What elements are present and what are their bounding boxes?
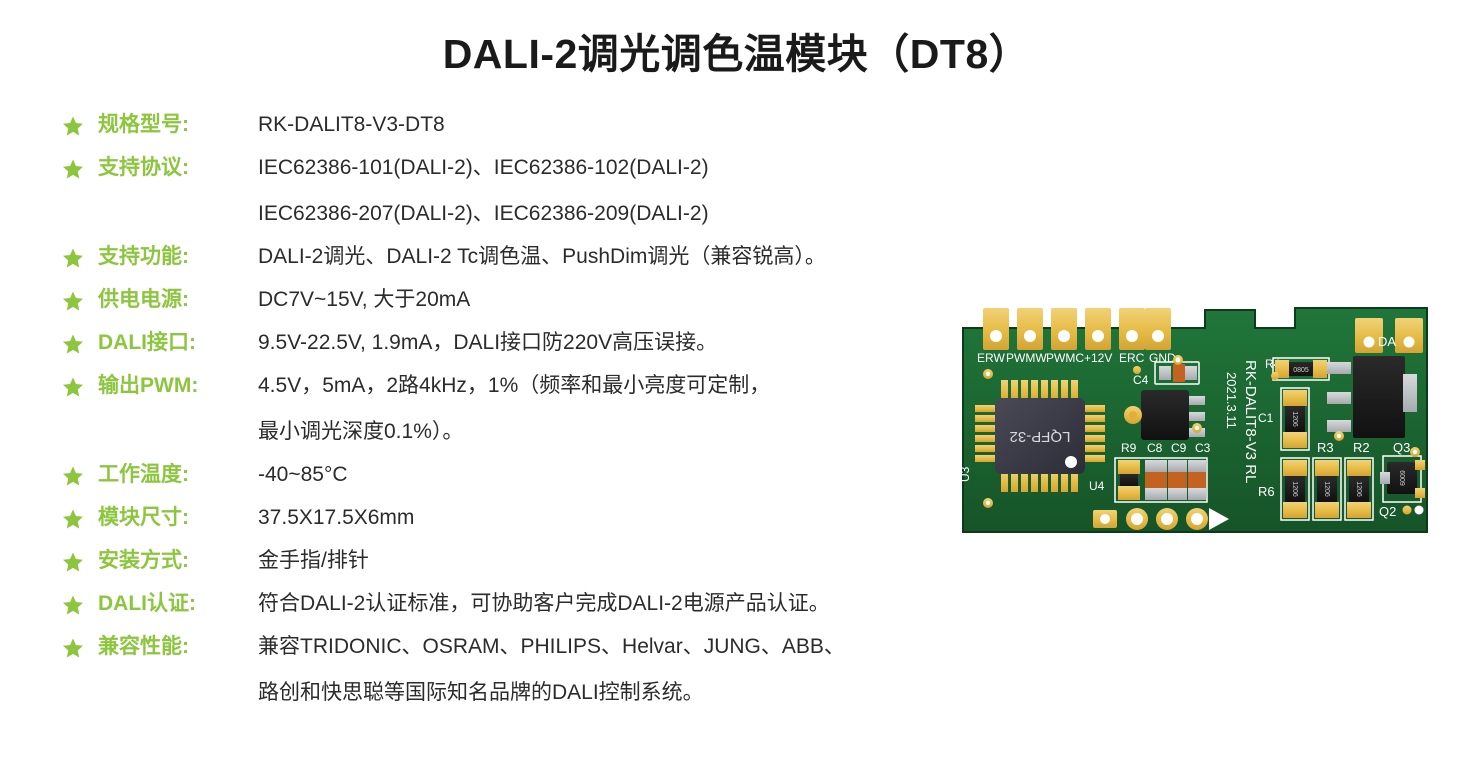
pin-label-12v: +12V	[1084, 351, 1112, 365]
star-cell	[62, 548, 98, 573]
star-icon	[62, 637, 84, 659]
spec-row-pwm-output: 输出PWM: 4.5V，5mA，2路4kHz，1%（频率和最小亮度可定制， 最小…	[62, 373, 1062, 445]
spec-label: 工作温度:	[98, 462, 258, 488]
spec-value-line: -40~85°C	[258, 462, 1062, 488]
spec-value-line: RK-DALIT8-V3-DT8	[258, 112, 1062, 138]
spec-label: 安装方式:	[98, 548, 258, 574]
star-cell	[62, 634, 98, 659]
spec-value-line: DALI-2调光、DALI-2 Tc调色温、PushDim调光（兼容锐高）。	[258, 244, 1062, 270]
star-icon	[62, 115, 84, 137]
ref-r9: R9	[1121, 441, 1137, 455]
product-spec-page: DALI-2调光调色温模块（DT8） 规格型号: RK-DALIT8-V3-DT…	[0, 0, 1473, 783]
svg-text:0805: 0805	[1293, 367, 1309, 374]
board-id-text: RK-DALIT8-V3 RL	[1242, 360, 1259, 483]
spec-row-functions: 支持功能: DALI-2调光、DALI-2 Tc调色温、PushDim调光（兼容…	[62, 244, 1062, 270]
pcb-module-photo: ERW PWMW PWMC +12V ERC GND DA	[955, 300, 1435, 545]
pin-label-erc: ERC	[1119, 351, 1145, 365]
spec-row-protocols: 支持协议: IEC62386-101(DALI-2)、IEC62386-102(…	[62, 155, 1062, 227]
spec-row-mounting: 安装方式: 金手指/排针	[62, 548, 1062, 574]
ref-r6: R6	[1258, 484, 1275, 499]
star-cell	[62, 373, 98, 398]
ref-c8: C8	[1147, 441, 1163, 455]
spec-value: DC7V~15V, 大于20mA	[258, 287, 1062, 313]
pin-label-pwmw: PWMW	[1006, 351, 1047, 365]
star-icon	[62, 508, 84, 530]
ref-c9: C9	[1171, 441, 1187, 455]
spec-value-line: DC7V~15V, 大于20mA	[258, 287, 1062, 313]
spec-label: 支持协议:	[98, 155, 258, 181]
star-cell	[62, 287, 98, 312]
spec-value: 37.5X17.5X6mm	[258, 505, 1062, 531]
ref-c4: C4	[1133, 373, 1149, 387]
star-icon	[62, 290, 84, 312]
ic-marking-lqfp32: LQFP-32	[1010, 428, 1071, 445]
spec-row-dimensions: 模块尺寸: 37.5X17.5X6mm	[62, 505, 1062, 531]
star-icon	[62, 376, 84, 398]
ref-c3: C3	[1195, 441, 1211, 455]
ref-q2: Q2	[1379, 504, 1396, 519]
spec-value: -40~85°C	[258, 462, 1062, 488]
spec-value-line: 路创和快思聪等国际知名品牌的DALI控制系统。	[258, 680, 1062, 706]
spec-value-line: 最小调光深度0.1%）。	[258, 419, 1062, 445]
page-title: DALI-2调光调色温模块（DT8）	[0, 20, 1473, 80]
svg-text:1206: 1206	[1291, 411, 1298, 427]
star-cell	[62, 462, 98, 487]
ref-r3: R3	[1317, 440, 1334, 455]
star-cell	[62, 591, 98, 616]
spec-value-line: 符合DALI-2认证标准，可协助客户完成DALI-2电源产品认证。	[258, 591, 1062, 617]
svg-text:1206: 1206	[1291, 481, 1298, 497]
board-date-text: 2021.3.11	[1224, 372, 1239, 429]
ref-c1: C1	[1258, 411, 1274, 425]
svg-text:6009: 6009	[1398, 470, 1405, 486]
pad-label-da: DA	[1378, 334, 1396, 349]
spec-value: 9.5V-22.5V, 1.9mA，DALI接口防220V高压误接。	[258, 330, 1062, 356]
spec-value-line: 金手指/排针	[258, 548, 1062, 574]
spec-value: 4.5V，5mA，2路4kHz，1%（频率和最小亮度可定制， 最小调光深度0.1…	[258, 373, 1062, 445]
star-icon	[62, 333, 84, 355]
spec-value: 兼容TRIDONIC、OSRAM、PHILIPS、Helvar、JUNG、ABB…	[258, 634, 1062, 706]
spec-value: DALI-2调光、DALI-2 Tc调色温、PushDim调光（兼容锐高）。	[258, 244, 1062, 270]
star-icon	[62, 465, 84, 487]
star-icon	[62, 158, 84, 180]
star-icon	[62, 247, 84, 269]
star-cell	[62, 330, 98, 355]
ref-u4: U4	[1089, 479, 1105, 493]
spec-label: DALI接口:	[98, 330, 258, 356]
spec-row-dali-interface: DALI接口: 9.5V-22.5V, 1.9mA，DALI接口防220V高压误…	[62, 330, 1062, 356]
spec-value: RK-DALIT8-V3-DT8	[258, 112, 1062, 138]
spec-label: 支持功能:	[98, 244, 258, 270]
svg-text:1206: 1206	[1355, 481, 1362, 497]
pin-label-erw: ERW	[977, 351, 1005, 365]
star-cell	[62, 112, 98, 137]
spec-label: 规格型号:	[98, 112, 258, 138]
ref-q3: Q3	[1393, 440, 1410, 455]
spec-label: 输出PWM:	[98, 373, 258, 399]
spec-label: DALI认证:	[98, 591, 258, 617]
spec-value: 金手指/排针	[258, 548, 1062, 574]
spec-value-line: 9.5V-22.5V, 1.9mA，DALI接口防220V高压误接。	[258, 330, 1062, 356]
spec-value-line: 兼容TRIDONIC、OSRAM、PHILIPS、Helvar、JUNG、ABB…	[258, 634, 1062, 660]
spec-row-operating-temperature: 工作温度: -40~85°C	[62, 462, 1062, 488]
star-cell	[62, 505, 98, 530]
spec-value: 符合DALI-2认证标准，可协助客户完成DALI-2电源产品认证。	[258, 591, 1062, 617]
spec-row-certification: DALI认证: 符合DALI-2认证标准，可协助客户完成DALI-2电源产品认证…	[62, 591, 1062, 617]
star-cell	[62, 244, 98, 269]
spec-value-line: IEC62386-207(DALI-2)、IEC62386-209(DALI-2…	[258, 201, 1062, 227]
svg-text:1206: 1206	[1323, 481, 1330, 497]
spec-label: 兼容性能:	[98, 634, 258, 660]
spec-value: IEC62386-101(DALI-2)、IEC62386-102(DALI-2…	[258, 155, 1062, 227]
spec-value-line: 4.5V，5mA，2路4kHz，1%（频率和最小亮度可定制，	[258, 373, 1062, 399]
spec-value-line: IEC62386-101(DALI-2)、IEC62386-102(DALI-2…	[258, 155, 1062, 181]
spec-row-power-supply: 供电电源: DC7V~15V, 大于20mA	[62, 287, 1062, 313]
ref-u3: U3	[958, 466, 972, 482]
ref-r2: R2	[1353, 440, 1370, 455]
star-icon	[62, 594, 84, 616]
pin-label-pwmc: PWMC	[1046, 351, 1084, 365]
spec-value-line: 37.5X17.5X6mm	[258, 505, 1062, 531]
star-cell	[62, 155, 98, 180]
spec-label: 模块尺寸:	[98, 505, 258, 531]
pin-label-gnd: GND	[1149, 351, 1176, 365]
spec-label: 供电电源:	[98, 287, 258, 313]
spec-row-compatibility: 兼容性能: 兼容TRIDONIC、OSRAM、PHILIPS、Helvar、JU…	[62, 634, 1062, 706]
star-icon	[62, 551, 84, 573]
spec-row-model: 规格型号: RK-DALIT8-V3-DT8	[62, 112, 1062, 138]
specification-list: 规格型号: RK-DALIT8-V3-DT8 支持协议: IEC62386-10…	[62, 112, 1062, 706]
